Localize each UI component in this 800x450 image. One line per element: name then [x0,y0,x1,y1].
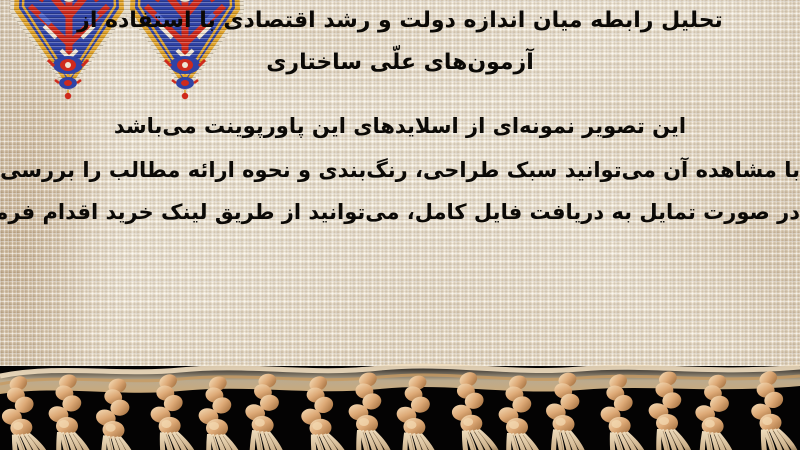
lower-black-band [0,366,800,450]
slide-canvas: تحلیل رابطه میان اندازه دولت و رشد اقتصا… [0,0,800,450]
canvas-background [0,0,800,386]
